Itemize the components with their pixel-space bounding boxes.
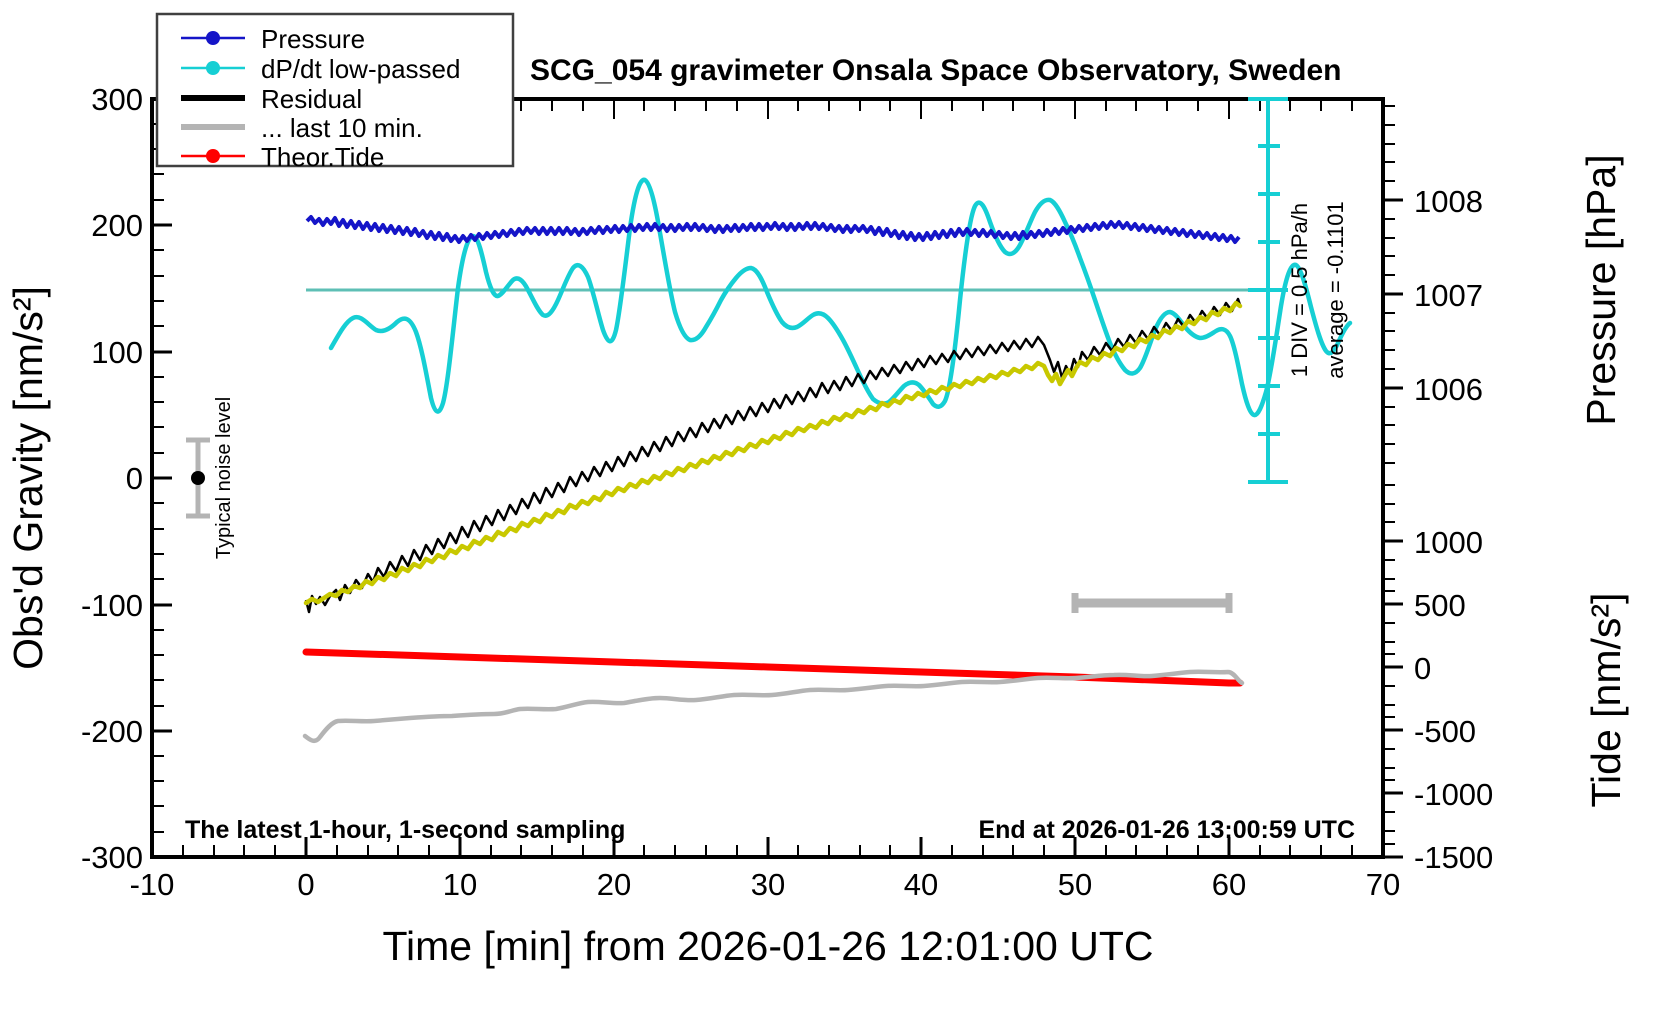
- footer-left-note: The latest 1-hour, 1-second sampling: [185, 816, 625, 844]
- right-tick-label-tide: 0: [1414, 651, 1431, 686]
- bottom-axis-title: Time [min] from 2026-01-26 12:01:00 UTC: [383, 923, 1154, 969]
- left-tick-label: 300: [91, 82, 143, 117]
- bottom-tick-label: 0: [297, 867, 314, 902]
- bottom-tick-label: 60: [1212, 867, 1246, 902]
- right-tick-label-tide: 1000: [1414, 525, 1483, 560]
- dpdt-scale-label: 1 DIV = 0.5 hPa/h: [1287, 203, 1312, 377]
- legend-marker-pressure: [206, 31, 220, 45]
- legend-label-residual: Residual: [261, 84, 362, 114]
- left-axis-title: Obs'd Gravity [nm/s²]: [5, 286, 51, 670]
- legend-label-dpdt: dP/dt low-passed: [261, 54, 460, 84]
- right-tick-label-pressure: 1008: [1414, 184, 1483, 219]
- bottom-tick-label: 50: [1058, 867, 1092, 902]
- footer-right-note: End at 2026-01-26 13:00:59 UTC: [978, 816, 1355, 844]
- typical-noise-level-label: Typical noise level: [213, 397, 235, 559]
- legend-label-last-10-min: ... last 10 min.: [261, 113, 423, 143]
- bottom-tick-label: 30: [751, 867, 785, 902]
- legend[interactable]: Pressure dP/dt low-passed Residual ... l…: [157, 14, 513, 172]
- legend-label-theor-tide: Theor.Tide: [261, 142, 384, 172]
- plot-svg: 300 200 100 0 -100 -200 -300 Obs'd Gravi…: [0, 0, 1660, 1020]
- bottom-tick-label: 40: [904, 867, 938, 902]
- right-tick-label-tide: -500: [1414, 714, 1476, 749]
- bottom-tick-label: 70: [1366, 867, 1400, 902]
- dpdt-average-label: average = -0.1101: [1323, 201, 1348, 379]
- legend-marker-dpdt: [206, 61, 220, 75]
- legend-marker-theor-tide: [206, 149, 220, 163]
- right-tick-label-pressure: 1007: [1414, 278, 1483, 313]
- left-tick-label: -100: [81, 588, 143, 623]
- left-tick-label: 0: [126, 461, 143, 496]
- legend-label-pressure: Pressure: [261, 24, 365, 54]
- right-axis-title-pressure: Pressure [hPa]: [1578, 154, 1624, 425]
- left-tick-label: 100: [91, 335, 143, 370]
- left-tick-label: 200: [91, 208, 143, 243]
- bottom-tick-label: 10: [443, 867, 477, 902]
- bottom-tick-label: -10: [130, 867, 175, 902]
- chart-canvas: 300 200 100 0 -100 -200 -300 Obs'd Gravi…: [0, 0, 1660, 1020]
- right-tick-label-tide: -1000: [1414, 777, 1493, 812]
- right-axis-title-tide: Tide [nm/s²]: [1583, 593, 1629, 808]
- right-axis-pressure-labels: 1008 1007 1006: [1414, 184, 1483, 407]
- right-tick-label-pressure: 1006: [1414, 372, 1483, 407]
- bottom-tick-label: 20: [597, 867, 631, 902]
- chart-title: SCG_054 gravimeter Onsala Space Observat…: [530, 54, 1342, 87]
- left-tick-label: -200: [81, 714, 143, 749]
- right-tick-label-tide: 500: [1414, 588, 1466, 623]
- right-tick-label-tide: -1500: [1414, 840, 1493, 875]
